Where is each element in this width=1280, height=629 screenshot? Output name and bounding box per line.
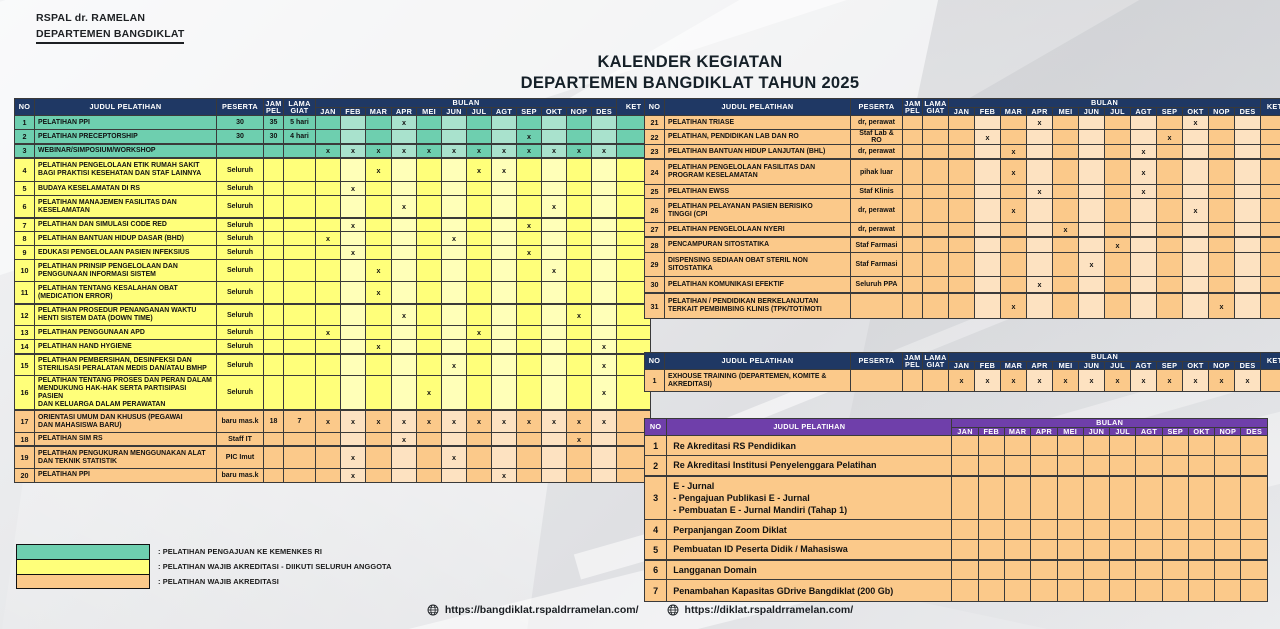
cell-month-apr-marked: x [392,432,417,446]
header-month-nop: NOP [1215,427,1241,436]
cell-jam-pel [264,354,284,376]
cell-month-okt [1183,277,1209,293]
cell-month-mar [366,304,392,326]
cell-month-nop-marked: x [567,304,592,326]
cell-no: 30 [645,277,665,293]
cell-month-mar-marked: x [1001,159,1027,185]
cell-month-jul [467,468,492,482]
cell-lama-giat [284,432,316,446]
cell-month-mar [366,196,392,218]
cell-month-okt [542,218,567,232]
cell-month-mei [1053,277,1079,293]
cell-month-jan [316,182,341,196]
cell-month-agt [1136,436,1162,456]
cell-month-jun [1079,116,1105,130]
cell-month-jul [1110,520,1136,540]
table-row: 20PELATIHAN PPIbaru mas.kxx [15,468,651,482]
cell-month-sep [1162,580,1188,602]
cell-judul: PELATIHAN PENGUKURAN MENGGUNAKAN ALATDAN… [35,446,217,468]
cell-month-mei [417,218,442,232]
header-ket: KET [1261,99,1280,116]
cell-month-des [1241,520,1268,540]
cell-month-des-marked: x [592,376,617,410]
table-right-header: NOJUDUL PELATIHANPESERTAJAMPELLAMAGIATBU… [645,99,1280,116]
cell-ket [617,326,651,340]
cell-month-agt [1131,237,1157,253]
cell-month-agt [492,130,517,144]
cell-month-jun-marked: x [1079,370,1105,392]
cell-month-des [592,182,617,196]
cell-no: 24 [645,159,665,185]
cell-month-sep [1162,560,1188,580]
cell-month-feb-marked: x [341,246,366,260]
cell-ket [1261,223,1280,237]
cell-month-mei [417,232,442,246]
cell-lama-giat [284,354,316,376]
legend: : PELATIHAN PENGAJUAN KE KEMENKES RI: PE… [16,544,392,589]
cell-jam-pel [903,199,923,223]
footer-link-text: https://diklat.rspaldrramelan.com/ [685,604,854,616]
cell-month-jul [467,282,492,304]
header-month-feb: FEB [978,427,1004,436]
cell-month-mei [417,116,442,130]
cell-month-des [1241,476,1268,520]
cell-month-des-marked: x [592,144,617,158]
cell-judul: PELATIHAN PENGELOLAAN NYERI [665,223,851,237]
cell-judul: ORIENTASI UMUM DAN KHUSUS (PEGAWAIDAN MA… [35,410,217,432]
legend-item: : PELATIHAN WAJIB AKREDITASI [16,574,392,589]
table-exhouse-header: NOJUDUL PELATIHANPESERTAJAMPELLAMAGIATBU… [645,353,1280,370]
cell-month-nop-marked: x [567,432,592,446]
header-peserta: PESERTA [851,353,903,370]
table-row: 7PELATIHAN DAN SIMULASI CODE REDSeluruhx… [15,218,651,232]
cell-month-des [592,282,617,304]
legend-swatch [16,544,150,559]
header-bulan: BULAN [949,99,1261,108]
table-left-body: 1PELATIHAN PPI30355 harix2PELATIHAN PREC… [15,116,651,482]
cell-month-apr [1027,223,1053,237]
cell-month-okt-marked: x [1183,199,1209,223]
cell-month-jul [1110,560,1136,580]
cell-judul: PELATIHAN, PENDIDIKAN LAB DAN RO [665,130,851,145]
cell-month-feb-marked: x [975,130,1001,145]
cell-month-agt [492,182,517,196]
cell-peserta: 30 [217,116,264,130]
cell-month-des [1235,185,1261,199]
cell-month-jul [467,116,492,130]
cell-peserta: Seluruh [217,340,264,354]
cell-month-feb [978,476,1004,520]
header-jam-pel: JAMPEL [903,353,923,370]
cell-peserta: baru mas.k [217,410,264,432]
cell-month-okt [1183,223,1209,237]
table-row: 30PELATIHAN KOMUNIKASI EFEKTIFSeluruh PP… [645,277,1280,293]
globe-icon [427,604,439,616]
cell-month-mei [1057,476,1083,520]
cell-month-jun [442,326,467,340]
cell-month-jan [949,237,975,253]
cell-ket [1261,293,1280,319]
cell-month-okt [1183,237,1209,253]
cell-month-okt [542,376,567,410]
legend-swatch [16,559,150,574]
cell-jam-pel [903,293,923,319]
table-row: 6PELATIHAN MANAJEMEN FASILITAS DANKESELA… [15,196,651,218]
cell-month-agt [492,340,517,354]
header-row-1: NOJUDUL PELATIHANPESERTAJAMPELLAMAGIATBU… [645,99,1280,108]
cell-peserta: Seluruh [217,282,264,304]
cell-month-jul [467,130,492,144]
cell-month-mei [1057,560,1083,580]
cell-month-jul [1105,159,1131,185]
cell-month-nop [1209,277,1235,293]
training-table-exhouse: NOJUDUL PELATIHANPESERTAJAMPELLAMAGIATBU… [644,352,1280,392]
cell-jam-pel: 18 [264,410,284,432]
cell-peserta: Seluruh [217,218,264,232]
cell-month-apr [392,446,417,468]
cell-no: 9 [15,246,35,260]
cell-month-feb [978,540,1004,560]
cell-month-jul [1105,145,1131,159]
cell-ket [1261,145,1280,159]
cell-no: 7 [645,580,667,602]
cell-no: 21 [645,116,665,130]
cell-month-apr [1027,145,1053,159]
cell-judul: DISPENSING SEDIAAN OBAT STERIL NONSITOST… [665,253,851,277]
cell-month-jun-marked: x [442,354,467,376]
cell-jam-pel [903,185,923,199]
cell-no: 16 [15,376,35,410]
cell-month-feb [978,580,1004,602]
cell-month-feb [341,260,366,282]
cell-peserta: dr, perawat [851,145,903,159]
cell-month-nop [567,218,592,232]
cell-peserta: Seluruh [217,376,264,410]
cell-lama-giat: 5 hari [284,116,316,130]
cell-peserta: Seluruh [217,182,264,196]
header-jam-pel: JAMPEL [903,99,923,116]
cell-month-feb [341,232,366,246]
cell-month-sep [1162,476,1188,520]
cell-month-jan [316,246,341,260]
cell-month-agt-marked: x [1131,185,1157,199]
cell-month-agt [1131,277,1157,293]
cell-month-okt-marked: x [542,410,567,432]
cell-month-feb [978,456,1004,476]
cell-ket [1261,237,1280,253]
cell-month-sep [1157,237,1183,253]
table-row: 6Langganan Domain [645,560,1268,580]
cell-month-mar-marked: x [366,158,392,182]
cell-judul: PELATIHAN BANTUAN HIDUP DASAR (BHD) [35,232,217,246]
cell-month-apr [392,326,417,340]
cell-month-sep [1157,185,1183,199]
cell-lama-giat [923,130,949,145]
cell-month-jan [949,185,975,199]
cell-month-feb [341,326,366,340]
cell-month-feb [978,520,1004,540]
table-left-container: NOJUDUL PELATIHANPESERTAJAMPELLAMAGIATBU… [14,98,632,483]
cell-no: 27 [645,223,665,237]
cell-judul: PELATIHAN SIM RS [35,432,217,446]
cell-no: 26 [645,199,665,223]
footer-link[interactable]: https://bangdiklat.rspaldrramelan.com/ [427,604,639,616]
cell-month-feb [975,277,1001,293]
cell-lama-giat [284,340,316,354]
cell-month-apr-marked: x [1027,185,1053,199]
cell-jam-pel [903,145,923,159]
cell-month-jun [1079,223,1105,237]
cell-lama-giat [284,326,316,340]
cell-judul: WEBINAR/SIMPOSIUM/WORKSHOP [35,144,217,158]
cell-jam-pel [264,218,284,232]
header-month-jan: JAN [316,107,341,116]
cell-month-jan [316,218,341,232]
cell-no: 22 [645,130,665,145]
cell-no: 18 [15,432,35,446]
table-row: 21PELATIHAN TRIASEdr, perawatxx [645,116,1280,130]
table-purple-body: 1Re Akreditasi RS Pendidikan2Re Akredita… [645,436,1268,602]
cell-month-feb [975,199,1001,223]
cell-month-jun-marked: x [442,446,467,468]
cell-month-feb-marked: x [341,182,366,196]
cell-lama-giat [284,260,316,282]
header-month-sep: SEP [1162,427,1188,436]
cell-month-jan [952,560,978,580]
cell-month-okt [1183,159,1209,185]
cell-month-okt [1188,456,1214,476]
cell-month-jan [316,260,341,282]
cell-month-jun [442,182,467,196]
cell-month-mei [417,340,442,354]
cell-peserta: dr, perawat [851,116,903,130]
header-month-apr: APR [1027,361,1053,370]
legend-item: : PELATIHAN WAJIB AKREDITASI - DIIKUTI S… [16,559,392,574]
cell-peserta: Staff IT [217,432,264,446]
cell-month-agt-marked: x [492,144,517,158]
cell-month-jun [442,246,467,260]
cell-month-sep [517,232,542,246]
cell-lama-giat [284,246,316,260]
table-row: 3WEBINAR/SIMPOSIUM/WORKSHOPxxxxxxxxxxxx [15,144,651,158]
header-row-1: NOJUDUL PELATIHANPESERTAJAMPELLAMAGIATBU… [645,353,1280,362]
header-month-jul: JUL [1105,361,1131,370]
cell-month-jan [316,116,341,130]
cell-month-sep [517,116,542,130]
cell-month-jul-marked: x [1105,237,1131,253]
cell-month-nop [1209,237,1235,253]
cell-month-des-marked: x [592,410,617,432]
cell-month-jul [467,232,492,246]
cell-lama-giat: 4 hari [284,130,316,144]
cell-month-nop-marked: x [1209,370,1235,392]
table-row: 23PELATIHAN BANTUAN HIDUP LANJUTAN (BHL)… [645,145,1280,159]
cell-jam-pel [264,182,284,196]
cell-month-agt-marked: x [1131,370,1157,392]
cell-month-apr-marked: x [1027,277,1053,293]
header-month-jan: JAN [949,361,975,370]
cell-month-okt [542,326,567,340]
cell-month-des-marked: x [1235,370,1261,392]
cell-month-agt [492,376,517,410]
cell-month-mei-marked: x [417,376,442,410]
cell-jam-pel [264,376,284,410]
table-row: 26PELATIHAN PELAYANAN PASIEN BERISIKOTIN… [645,199,1280,223]
cell-month-feb [341,282,366,304]
cell-month-apr [392,340,417,354]
cell-month-okt [1183,185,1209,199]
cell-month-mar-marked: x [366,144,392,158]
cell-month-des [1235,237,1261,253]
cell-month-des [1235,223,1261,237]
cell-month-sep [517,354,542,376]
cell-month-mar [1004,436,1030,456]
header-lama-giat: LAMAGIAT [284,99,316,116]
brand-line-2: DEPARTEMEN BANGDIKLAT [36,28,184,44]
cell-month-apr [1027,130,1053,145]
cell-no: 31 [645,293,665,319]
header-month-des: DES [592,107,617,116]
cell-month-des [592,116,617,130]
cell-month-nop [1215,436,1241,456]
cell-month-jun [1079,159,1105,185]
cell-jam-pel [264,196,284,218]
cell-month-jan [316,340,341,354]
header-month-nop: NOP [1209,107,1235,116]
cell-month-feb [341,196,366,218]
cell-month-apr [392,232,417,246]
cell-month-des [1241,540,1268,560]
header-month-mar: MAR [1001,361,1027,370]
header-month-nop: NOP [567,107,592,116]
cell-month-jun-marked: x [442,232,467,246]
cell-month-mar [366,376,392,410]
cell-month-okt-marked: x [1183,370,1209,392]
cell-month-agt [1136,560,1162,580]
cell-month-jun [1079,237,1105,253]
cell-jam-pel [264,144,284,158]
table-purple-header: NOJUDUL PELATIHANBULANJANFEBMARAPRMEIJUN… [645,419,1268,436]
cell-month-okt [1188,540,1214,560]
cell-month-okt-marked: x [542,196,567,218]
cell-month-mar [1001,223,1027,237]
cell-no: 8 [15,232,35,246]
activity-table-purple: NOJUDUL PELATIHANBULANJANFEBMARAPRMEIJUN… [644,418,1268,602]
header-no: NO [645,353,665,370]
cell-month-okt [542,282,567,304]
cell-month-feb [341,376,366,410]
cell-month-agt [492,246,517,260]
cell-month-jan [316,130,341,144]
table-row: 27PELATIHAN PENGELOLAAN NYERIdr, perawat… [645,223,1280,237]
cell-month-des [592,304,617,326]
cell-month-apr [392,376,417,410]
cell-month-mar-marked: x [1001,199,1027,223]
cell-month-sep [517,376,542,410]
cell-month-mei [1053,237,1079,253]
cell-month-apr [392,182,417,196]
cell-month-nop [1209,159,1235,185]
cell-jam-pel [264,282,284,304]
cell-month-jan [949,223,975,237]
cell-month-feb [975,159,1001,185]
cell-jam-pel [264,340,284,354]
cell-month-mar [366,130,392,144]
cell-no: 3 [645,476,667,520]
cell-month-nop [1215,580,1241,602]
cell-month-agt [1131,130,1157,145]
cell-month-mei [417,130,442,144]
cell-peserta: Seluruh PPA [851,277,903,293]
cell-month-jan [316,196,341,218]
cell-month-apr [392,282,417,304]
cell-lama-giat [923,277,949,293]
cell-month-mei [1053,159,1079,185]
header-row-1: NOJUDUL PELATIHANBULAN [645,419,1268,428]
cell-month-mei [1057,540,1083,560]
cell-month-okt [542,340,567,354]
table-row: 5Pembuatan ID Peserta Didik / Mahasiswa [645,540,1268,560]
cell-month-sep [517,468,542,482]
cell-month-okt [542,468,567,482]
legend-swatch [16,574,150,589]
cell-month-jan-marked: x [316,232,341,246]
cell-ket [1261,253,1280,277]
cell-month-apr [392,158,417,182]
cell-month-jul [1105,253,1131,277]
cell-month-mei [417,182,442,196]
cell-judul: PELATIHAN HAND HYGIENE [35,340,217,354]
cell-month-mar [366,354,392,376]
cell-month-jun [1083,580,1109,602]
cell-month-des [1235,253,1261,277]
cell-month-jan [316,304,341,326]
cell-month-des [592,432,617,446]
footer-link[interactable]: https://diklat.rspaldrramelan.com/ [667,604,854,616]
globe-icon [667,604,679,616]
cell-month-mar [1004,456,1030,476]
header-month-jul: JUL [1105,107,1131,116]
cell-month-nop [567,130,592,144]
cell-month-jun [1079,145,1105,159]
cell-month-des-marked: x [592,354,617,376]
header-month-sep: SEP [1157,107,1183,116]
cell-month-nop [567,446,592,468]
cell-month-okt-marked: x [542,260,567,282]
cell-month-agt [1131,293,1157,319]
header-month-apr: APR [1031,427,1057,436]
cell-month-des [592,260,617,282]
cell-judul: Pembuatan ID Peserta Didik / Mahasiswa [667,540,952,560]
cell-no: 7 [15,218,35,232]
cell-month-agt [492,116,517,130]
cell-month-nop [567,116,592,130]
cell-no: 19 [15,446,35,468]
cell-month-jun [1079,185,1105,199]
cell-month-mei [1053,116,1079,130]
cell-month-jun-marked: x [1079,253,1105,277]
cell-jam-pel [903,253,923,277]
cell-month-des [1235,277,1261,293]
cell-month-jun [1083,456,1109,476]
cell-month-jul [467,218,492,232]
cell-month-agt [1131,223,1157,237]
cell-month-nop [567,158,592,182]
header-month-jan: JAN [949,107,975,116]
table-row: 31PELATIHAN / PENDIDIKAN BERKELANJUTANTE… [645,293,1280,319]
brand-line-1: RSPAL dr. RAMELAN [36,12,184,24]
cell-month-sep [1157,293,1183,319]
